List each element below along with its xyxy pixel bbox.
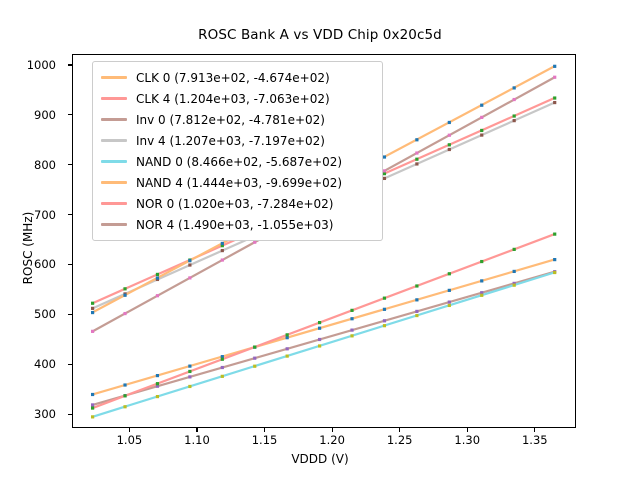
data-point: [553, 258, 556, 261]
data-point: [91, 403, 94, 406]
y-tick-label: 800: [0, 158, 56, 172]
legend-item: NOR 0 (1.020e+03, -7.284e+02): [93, 193, 382, 214]
data-point: [123, 383, 126, 386]
data-point: [221, 375, 224, 378]
data-point: [448, 289, 451, 292]
data-point: [188, 259, 191, 262]
data-point: [350, 309, 353, 312]
y-tick-label: 600: [0, 257, 56, 271]
data-point: [513, 248, 516, 251]
data-point: [350, 334, 353, 337]
data-point: [156, 374, 159, 377]
legend-item: NOR 4 (1.490e+03, -1.055e+03): [93, 214, 382, 235]
data-point: [156, 273, 159, 276]
data-point: [253, 345, 256, 348]
legend-label: NOR 4 (1.490e+03, -1.055e+03): [136, 218, 333, 232]
x-tick-mark: [399, 428, 400, 432]
x-tick-label: 1.15: [235, 433, 295, 447]
data-point: [350, 329, 353, 332]
data-point: [480, 279, 483, 282]
x-tick-label: 1.30: [437, 433, 497, 447]
data-point: [156, 382, 159, 385]
data-point: [188, 365, 191, 368]
data-point: [253, 357, 256, 360]
data-point: [448, 300, 451, 303]
x-tick-label: 1.35: [505, 433, 565, 447]
data-point: [221, 358, 224, 361]
data-point: [448, 272, 451, 275]
data-point: [91, 307, 94, 310]
data-point: [480, 116, 483, 119]
x-tick-mark: [332, 428, 333, 432]
data-point: [123, 287, 126, 290]
x-tick-mark: [534, 428, 535, 432]
legend-label: NAND 4 (1.444e+03, -9.699e+02): [136, 176, 342, 190]
legend-color-swatch: [101, 118, 127, 121]
legend-label: NOR 0 (1.020e+03, -7.284e+02): [136, 197, 333, 211]
data-point: [123, 394, 126, 397]
legend-label: NAND 0 (8.466e+02, -5.687e+02): [136, 155, 342, 169]
data-point: [91, 330, 94, 333]
data-point: [553, 76, 556, 79]
legend-label: Inv 4 (1.207e+03, -7.197e+02): [136, 134, 325, 148]
data-point: [91, 415, 94, 418]
data-point: [553, 96, 556, 99]
data-point: [318, 321, 321, 324]
data-point: [188, 263, 191, 266]
legend-label: Inv 0 (7.812e+02, -4.781e+02): [136, 113, 325, 127]
fit-line: [93, 234, 555, 408]
data-point: [91, 406, 94, 409]
x-tick-label: 1.10: [167, 433, 227, 447]
legend-color-swatch: [101, 76, 127, 79]
legend-item: Inv 4 (1.207e+03, -7.197e+02): [93, 130, 382, 151]
data-point: [91, 302, 94, 305]
data-point: [188, 385, 191, 388]
data-point: [383, 169, 386, 172]
x-tick-label: 1.05: [99, 433, 159, 447]
x-tick-label: 1.25: [370, 433, 430, 447]
y-tick-label: 700: [0, 208, 56, 222]
chart-title: ROSC Bank A vs VDD Chip 0x20c5d: [0, 27, 640, 43]
data-point: [415, 162, 418, 165]
data-point: [286, 354, 289, 357]
data-point: [513, 86, 516, 89]
data-point: [415, 310, 418, 313]
data-point: [513, 119, 516, 122]
data-point: [221, 242, 224, 245]
legend-item: NAND 4 (1.444e+03, -9.699e+02): [93, 172, 382, 193]
legend-color-swatch: [101, 202, 127, 205]
data-point: [188, 375, 191, 378]
data-point: [123, 405, 126, 408]
data-point: [480, 104, 483, 107]
data-point: [513, 114, 516, 117]
data-point: [91, 311, 94, 314]
data-point: [513, 270, 516, 273]
x-tick-mark: [129, 428, 130, 432]
x-tick-mark: [467, 428, 468, 432]
data-point: [415, 298, 418, 301]
data-point: [480, 260, 483, 263]
data-point: [383, 297, 386, 300]
data-point: [480, 129, 483, 132]
legend-color-swatch: [101, 139, 127, 142]
data-point: [553, 271, 556, 274]
data-point: [448, 304, 451, 307]
chart-figure: ROSC Bank A vs VDD Chip 0x20c5d ROSC (MH…: [0, 0, 640, 480]
y-tick-label: 1000: [0, 58, 56, 72]
data-point: [383, 172, 386, 175]
data-point: [188, 370, 191, 373]
data-point: [253, 365, 256, 368]
legend-item: Inv 0 (7.812e+02, -4.781e+02): [93, 109, 382, 130]
y-tick-label: 300: [0, 407, 56, 421]
data-point: [415, 151, 418, 154]
data-point: [221, 249, 224, 252]
data-point: [383, 177, 386, 180]
data-point: [318, 327, 321, 330]
chart-legend: CLK 0 (7.913e+02, -4.674e+02)CLK 4 (1.20…: [92, 61, 383, 241]
fit-line: [93, 259, 555, 394]
data-point: [123, 294, 126, 297]
data-point: [188, 276, 191, 279]
data-point: [448, 134, 451, 137]
data-point: [448, 143, 451, 146]
data-point: [553, 233, 556, 236]
legend-color-swatch: [101, 181, 127, 184]
legend-item: CLK 0 (7.913e+02, -4.674e+02): [93, 67, 382, 88]
data-point: [286, 347, 289, 350]
data-point: [480, 294, 483, 297]
data-point: [156, 276, 159, 279]
legend-color-swatch: [101, 160, 127, 163]
data-point: [286, 333, 289, 336]
legend-color-swatch: [101, 223, 127, 226]
x-axis-label: VDDD (V): [0, 452, 640, 466]
data-point: [383, 319, 386, 322]
data-point: [553, 65, 556, 68]
data-point: [253, 241, 256, 244]
data-point: [350, 317, 353, 320]
data-point: [415, 284, 418, 287]
y-tick-label: 400: [0, 357, 56, 371]
data-point: [286, 336, 289, 339]
data-point: [318, 338, 321, 341]
y-tick-label: 500: [0, 307, 56, 321]
data-point: [156, 395, 159, 398]
data-point: [415, 158, 418, 161]
y-tick-label: 900: [0, 108, 56, 122]
data-point: [415, 138, 418, 141]
data-point: [415, 314, 418, 317]
data-point: [553, 101, 556, 104]
data-point: [123, 312, 126, 315]
legend-item: CLK 4 (1.204e+03, -7.063e+02): [93, 88, 382, 109]
fit-line: [93, 272, 555, 405]
legend-label: CLK 4 (1.204e+03, -7.063e+02): [136, 92, 330, 106]
x-tick-mark: [196, 428, 197, 432]
data-point: [513, 284, 516, 287]
data-point: [318, 344, 321, 347]
data-point: [91, 393, 94, 396]
data-point: [221, 258, 224, 261]
x-tick-label: 1.20: [302, 433, 362, 447]
data-point: [448, 148, 451, 151]
data-point: [513, 98, 516, 101]
data-point: [383, 324, 386, 327]
data-point: [448, 121, 451, 124]
legend-color-swatch: [101, 97, 127, 100]
x-tick-mark: [264, 428, 265, 432]
data-point: [221, 366, 224, 369]
data-point: [383, 308, 386, 311]
legend-label: CLK 0 (7.913e+02, -4.674e+02): [136, 71, 330, 85]
data-point: [480, 133, 483, 136]
data-point: [383, 155, 386, 158]
data-point: [156, 294, 159, 297]
legend-item: NAND 0 (8.466e+02, -5.687e+02): [93, 151, 382, 172]
